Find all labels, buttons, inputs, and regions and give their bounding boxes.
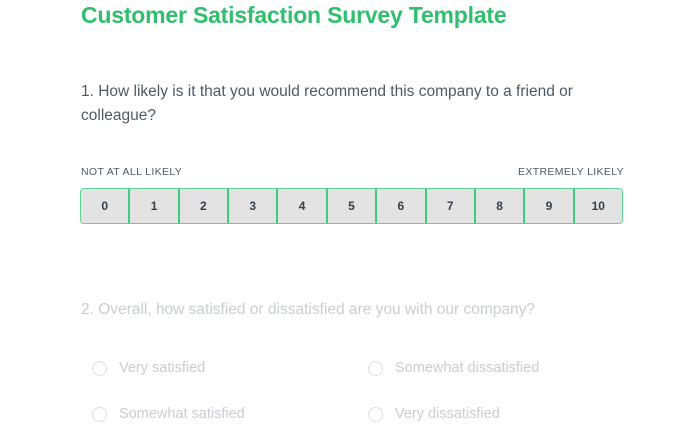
question-2-block: 2. Overall, how satisfied or dissatisfie… — [81, 298, 641, 321]
scale-option-5[interactable]: 5 — [326, 189, 375, 223]
question-2-text: 2. Overall, how satisfied or dissatisfie… — [81, 298, 641, 321]
page-title: Customer Satisfaction Survey Template — [81, 2, 506, 29]
scale-option-3[interactable]: 3 — [227, 189, 276, 223]
radio-option-label: Very dissatisfied — [395, 406, 500, 422]
question-1-block: 1. How likely is it that you would recom… — [81, 80, 629, 128]
scale-option-0[interactable]: 0 — [81, 189, 128, 223]
option-row: Somewhat satisfied Very dissatisfied — [92, 391, 652, 437]
radio-option-somewhat-satisfied[interactable]: Somewhat satisfied — [92, 406, 368, 422]
radio-circle-icon[interactable] — [368, 361, 383, 376]
radio-circle-icon[interactable] — [368, 407, 383, 422]
radio-option-label: Somewhat dissatisfied — [395, 360, 539, 376]
scale-right-label: EXTREMELY LIKELY — [518, 166, 624, 178]
radio-option-label: Very satisfied — [119, 360, 205, 376]
scale-option-6[interactable]: 6 — [375, 189, 424, 223]
radio-circle-icon[interactable] — [92, 407, 107, 422]
nps-scale-bar[interactable]: 0 1 2 3 4 5 6 7 8 9 10 — [80, 188, 623, 224]
option-row: Very satisfied Somewhat dissatisfied — [92, 345, 652, 391]
radio-circle-icon[interactable] — [92, 361, 107, 376]
radio-option-very-satisfied[interactable]: Very satisfied — [92, 360, 368, 376]
radio-option-very-dissatisfied[interactable]: Very dissatisfied — [368, 406, 644, 422]
survey-page: Customer Satisfaction Survey Template 1.… — [0, 0, 700, 429]
radio-option-label: Somewhat satisfied — [119, 406, 245, 422]
scale-option-7[interactable]: 7 — [425, 189, 474, 223]
scale-endpoint-labels: NOT AT ALL LIKELY EXTREMELY LIKELY — [81, 166, 624, 178]
scale-option-9[interactable]: 9 — [523, 189, 572, 223]
scale-option-1[interactable]: 1 — [128, 189, 177, 223]
radio-option-somewhat-dissatisfied[interactable]: Somewhat dissatisfied — [368, 360, 644, 376]
question-2-options: Very satisfied Somewhat dissatisfied Som… — [92, 345, 652, 437]
scale-left-label: NOT AT ALL LIKELY — [81, 166, 182, 178]
scale-option-4[interactable]: 4 — [276, 189, 325, 223]
scale-option-10[interactable]: 10 — [573, 189, 622, 223]
question-1-text: 1. How likely is it that you would recom… — [81, 80, 629, 128]
scale-option-2[interactable]: 2 — [178, 189, 227, 223]
scale-option-8[interactable]: 8 — [474, 189, 523, 223]
